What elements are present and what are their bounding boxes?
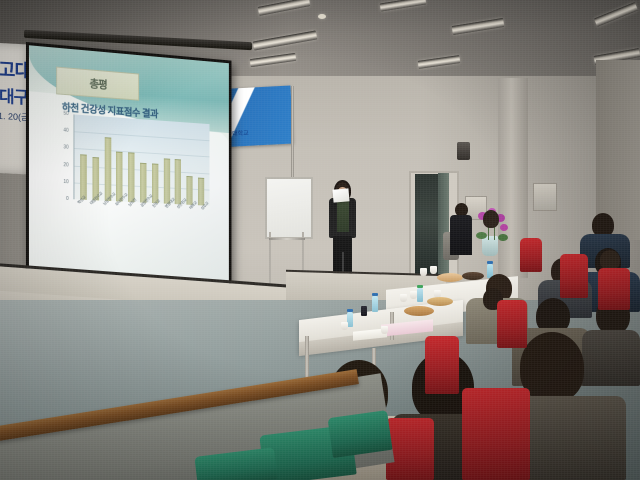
screen-surface: 총평 하천 건강성 지표점수 결과 01020304050 학성교대암천수교남창… (29, 45, 229, 299)
paper-cup-2 (381, 326, 388, 334)
audience-shoulders-6 (582, 330, 640, 386)
auditorium-seat-green-3[interactable] (328, 410, 393, 458)
water-bottle-3 (417, 288, 423, 302)
wall-access-panel (533, 183, 557, 211)
chart-bar (198, 178, 204, 205)
audience-head-14 (600, 250, 620, 270)
paper-cup-1 (341, 322, 348, 330)
slide-bar-chart: 01020304050 학성교대암천수교남창천수교회야천수교남외천삼정천수교진장… (48, 113, 211, 225)
chart-y-tick: 40 (63, 128, 68, 134)
flipchart-leg-left (269, 232, 271, 290)
chart-plot-area (73, 114, 209, 205)
chart-bar (80, 155, 87, 200)
bottle-cap-2 (347, 309, 353, 312)
bottle-cap-1 (372, 293, 378, 296)
drink-can (361, 306, 367, 316)
chart-bars (74, 114, 209, 205)
chart-bar (175, 159, 181, 205)
paper-cup-4 (410, 291, 417, 299)
slide-header-text: 총평 (90, 75, 107, 92)
chart-y-tick: 10 (63, 179, 68, 185)
auditorium-seat-red-5[interactable] (462, 388, 530, 480)
audience-head-7 (483, 210, 499, 228)
chart-y-tick: 50 (63, 111, 68, 117)
chart-x-tick-label: 진장교 (151, 200, 160, 209)
snack-plate-2 (427, 297, 453, 306)
projection-screen: 총평 하천 건강성 지표점수 결과 01020304050 학성교대암천수교남창… (26, 42, 231, 302)
orchid-leaf-2 (498, 234, 508, 241)
orchid-leaf-1 (476, 232, 487, 239)
chart-bar (128, 152, 134, 202)
chart-y-tick: 20 (63, 162, 68, 168)
chart-y-axis: 01020304050 (48, 108, 71, 204)
ceiling-light-9 (318, 14, 326, 19)
photo-scene: 고대 대구 · 1. 20(금) 1 표회 표회 대학교 한국대학교 총평 하천… (0, 0, 640, 480)
orchid-bloom-5 (500, 224, 508, 231)
snack-plate-1 (404, 306, 434, 316)
paper-cup-3 (400, 294, 407, 302)
auditorium-seat-red-3[interactable] (560, 254, 588, 298)
auditorium-seat-red-1[interactable] (425, 336, 459, 394)
bottle-cap-back-1 (487, 261, 493, 264)
flipchart-crossbar (269, 238, 305, 240)
auditorium-seat-red-6[interactable] (386, 418, 434, 480)
chart-bar (163, 158, 169, 204)
food-tray-back-2 (462, 272, 484, 280)
cup-back-2 (430, 266, 437, 274)
cup-back-1 (420, 268, 427, 276)
water-bottle-1 (372, 296, 378, 312)
chart-y-tick: 30 (63, 145, 68, 151)
bottle-cap-3 (417, 285, 423, 288)
chart-y-tick: 0 (66, 196, 69, 202)
seated-attendee-body (450, 215, 472, 255)
food-tray-back (437, 273, 463, 282)
auditorium-seat-red-4[interactable] (598, 268, 630, 310)
wall-speaker (457, 142, 470, 160)
auditorium-seat-red-7[interactable] (520, 238, 542, 272)
flower-vase (482, 236, 498, 256)
auditorium-seat-red-2[interactable] (497, 300, 527, 348)
flipchart-whiteboard (265, 177, 313, 239)
presenter-script-paper (332, 188, 349, 202)
presenter-vest (337, 200, 349, 232)
chart-bar (104, 138, 111, 202)
